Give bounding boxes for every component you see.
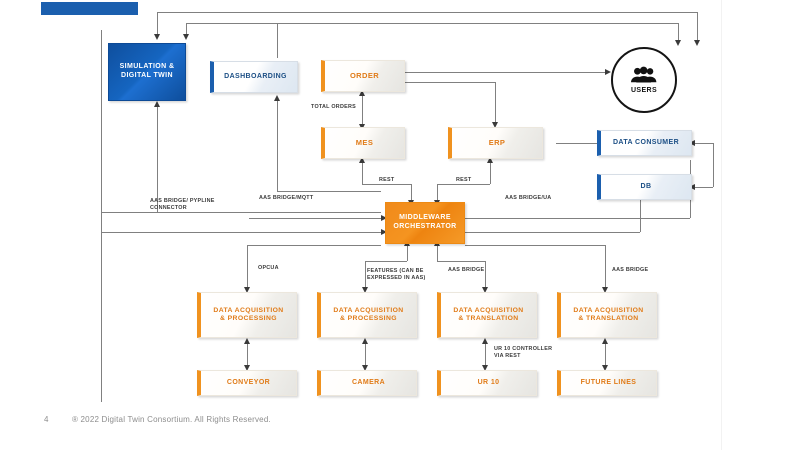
node-ur10[interactable]: UR 10	[437, 370, 537, 396]
edge-aas4-v	[605, 245, 606, 287]
node-daq-processing-1-label: DATA ACQUISITION & PROCESSING	[201, 307, 296, 324]
node-data-consumer[interactable]: DATA CONSUMER	[597, 130, 692, 156]
edge-right-loop-top	[695, 143, 713, 144]
edge-aas3-h	[437, 261, 485, 262]
edge-mqtt-bus	[277, 191, 381, 192]
edge-erp-rest-down	[437, 184, 438, 200]
arrow-top-bus-b-left	[183, 34, 189, 40]
arrow-order-to-users	[605, 69, 611, 75]
edge-label-ur10-controller: UR 10 CONTROLLER VIA REST	[494, 346, 552, 361]
users-group-icon	[630, 66, 658, 86]
edge-label-rest-mes: REST	[379, 177, 394, 184]
arrow-top-bus-a-to-users	[694, 40, 700, 46]
node-ur10-label: UR 10	[441, 379, 536, 388]
node-daq-translation-1[interactable]: DATA ACQUISITION & TRANSLATION	[437, 292, 537, 338]
edge-label-opcua: OPCUA	[258, 265, 279, 272]
edge-mw-in-right-2-riser	[640, 196, 641, 232]
node-simulation-digital-twin[interactable]: SIMULATION & DIGITAL TWIN	[108, 43, 186, 101]
node-future-lines[interactable]: FUTURE LINES	[557, 370, 657, 396]
edge-order-to-erp-v	[495, 82, 496, 122]
node-conveyor-label: CONVEYOR	[201, 379, 296, 388]
arrow-dashboarding-up	[274, 95, 280, 101]
edge-order-to-users	[405, 72, 605, 73]
edge-top-bus-a-left-drop	[157, 12, 158, 34]
arrow-daq3-up	[482, 338, 488, 344]
edge-opcua-v	[247, 245, 248, 287]
node-middleware-orchestrator-label: MIDDLEWARE ORCHESTRATOR	[386, 214, 464, 232]
node-db-label: DB	[601, 183, 691, 192]
edge-top-bus-a	[157, 12, 698, 13]
node-users[interactable]: USERS	[611, 47, 677, 113]
node-mes-label: MES	[325, 138, 404, 147]
edge-label-features-aas: FEATURES (CAN BE EXPRESSED IN AAS)	[367, 268, 426, 283]
edge-pypline-bus-left	[101, 212, 157, 213]
node-order[interactable]: ORDER	[321, 60, 405, 92]
node-daq-processing-2[interactable]: DATA ACQUISITION & PROCESSING	[317, 292, 417, 338]
edge-label-total-orders: TOTAL ORDERS	[311, 104, 356, 111]
edge-aas4-h	[465, 245, 605, 246]
arrow-daq2-up	[362, 338, 368, 344]
footer-page-number: 4	[44, 415, 72, 424]
edge-right-loop-bottom	[695, 187, 713, 188]
edge-label-aas-bridge-ua: AAS BRIDGE/UA	[505, 195, 551, 202]
edge-order-to-erp-h	[405, 82, 495, 83]
edge-daq1-conveyor	[247, 343, 248, 365]
edge-top-bus-b	[186, 23, 678, 24]
edge-mes-rest-down	[411, 184, 412, 200]
node-camera[interactable]: CAMERA	[317, 370, 417, 396]
node-simulation-digital-twin-label: SIMULATION & DIGITAL TWIN	[109, 63, 185, 81]
brand-header-bar	[41, 2, 138, 15]
slide-canvas: MES (TOTAL ORDERS, double arrow) --> USE…	[0, 0, 800, 450]
edge-order-mes	[362, 95, 363, 125]
edge-features-down	[365, 261, 366, 287]
arrow-sim-up	[154, 101, 160, 107]
edge-features-h	[365, 261, 407, 262]
node-daq-translation-2[interactable]: DATA ACQUISITION & TRANSLATION	[557, 292, 657, 338]
arrow-top-bus-b-right	[675, 40, 681, 46]
edge-daq3-ur10	[485, 343, 486, 365]
edge-mw-in-right-1	[465, 218, 690, 219]
edge-top-bus-a-right-drop	[697, 12, 698, 40]
edge-dashboarding-top-feed	[277, 23, 278, 58]
node-dashboarding[interactable]: DASHBOARDING	[210, 61, 298, 93]
edge-label-aas-bridge-3: AAS BRIDGE	[448, 267, 484, 274]
edge-label-aas-bridge-pypline: AAS BRIDGE/ PYPLINE CONNECTOR	[150, 198, 215, 213]
edge-top-bus-b-right-drop	[678, 23, 679, 40]
node-daq-translation-2-label: DATA ACQUISITION & TRANSLATION	[561, 307, 656, 324]
edge-daq4-futurelines	[605, 343, 606, 365]
edge-right-loop-v	[713, 143, 714, 187]
node-daq-processing-1[interactable]: DATA ACQUISITION & PROCESSING	[197, 292, 297, 338]
node-erp-label: ERP	[452, 138, 542, 147]
edge-opcua-h	[247, 245, 381, 246]
node-middleware-orchestrator[interactable]: MIDDLEWARE ORCHESTRATOR	[385, 202, 465, 244]
edge-daq2-camera	[365, 343, 366, 365]
arrow-daq4-up	[602, 338, 608, 344]
node-mes[interactable]: MES	[321, 127, 405, 159]
node-dashboarding-label: DASHBOARDING	[214, 73, 297, 82]
arrow-daq1-up	[244, 338, 250, 344]
slide-footer: 4® 2022 Digital Twin Consortium. All Rig…	[44, 415, 271, 424]
node-users-label: USERS	[631, 87, 657, 94]
edge-dashboarding-up-stem	[277, 101, 278, 191]
edge-pypline-bus-riser	[101, 30, 102, 212]
node-erp[interactable]: ERP	[448, 127, 543, 159]
edge-aas3-down	[485, 261, 486, 287]
edge-mw-in-right-2	[465, 232, 640, 233]
node-order-label: ORDER	[325, 71, 404, 80]
node-conveyor[interactable]: CONVEYOR	[197, 370, 297, 396]
edge-label-rest-erp: REST	[456, 177, 471, 184]
edge-label-aas-bridge-mqtt: AAS BRIDGE/MQTT	[259, 195, 313, 202]
edge-mw-in-left-2	[101, 232, 381, 233]
edge-aas3-stem	[437, 245, 438, 261]
node-daq-translation-1-label: DATA ACQUISITION & TRANSLATION	[441, 307, 536, 324]
node-daq-processing-2-label: DATA ACQUISITION & PROCESSING	[321, 307, 416, 324]
edge-features-stem	[407, 245, 408, 261]
node-future-lines-label: FUTURE LINES	[561, 379, 656, 388]
edge-label-aas-bridge-4: AAS BRIDGE	[612, 267, 648, 274]
arrow-top-bus-a-to-sim	[154, 34, 160, 40]
edge-left-rail	[101, 212, 102, 402]
edge-erp-rest-up	[490, 162, 491, 184]
node-camera-label: CAMERA	[321, 379, 416, 388]
node-data-consumer-label: DATA CONSUMER	[601, 139, 691, 148]
edge-mes-rest-up	[362, 162, 363, 184]
edge-sim-up-stem	[157, 107, 158, 212]
edge-mw-in-left-1	[249, 218, 381, 219]
footer-copyright: ® 2022 Digital Twin Consortium. All Righ…	[72, 415, 271, 424]
edge-top-bus-b-left-drop	[186, 23, 187, 34]
node-db[interactable]: DB	[597, 174, 692, 200]
